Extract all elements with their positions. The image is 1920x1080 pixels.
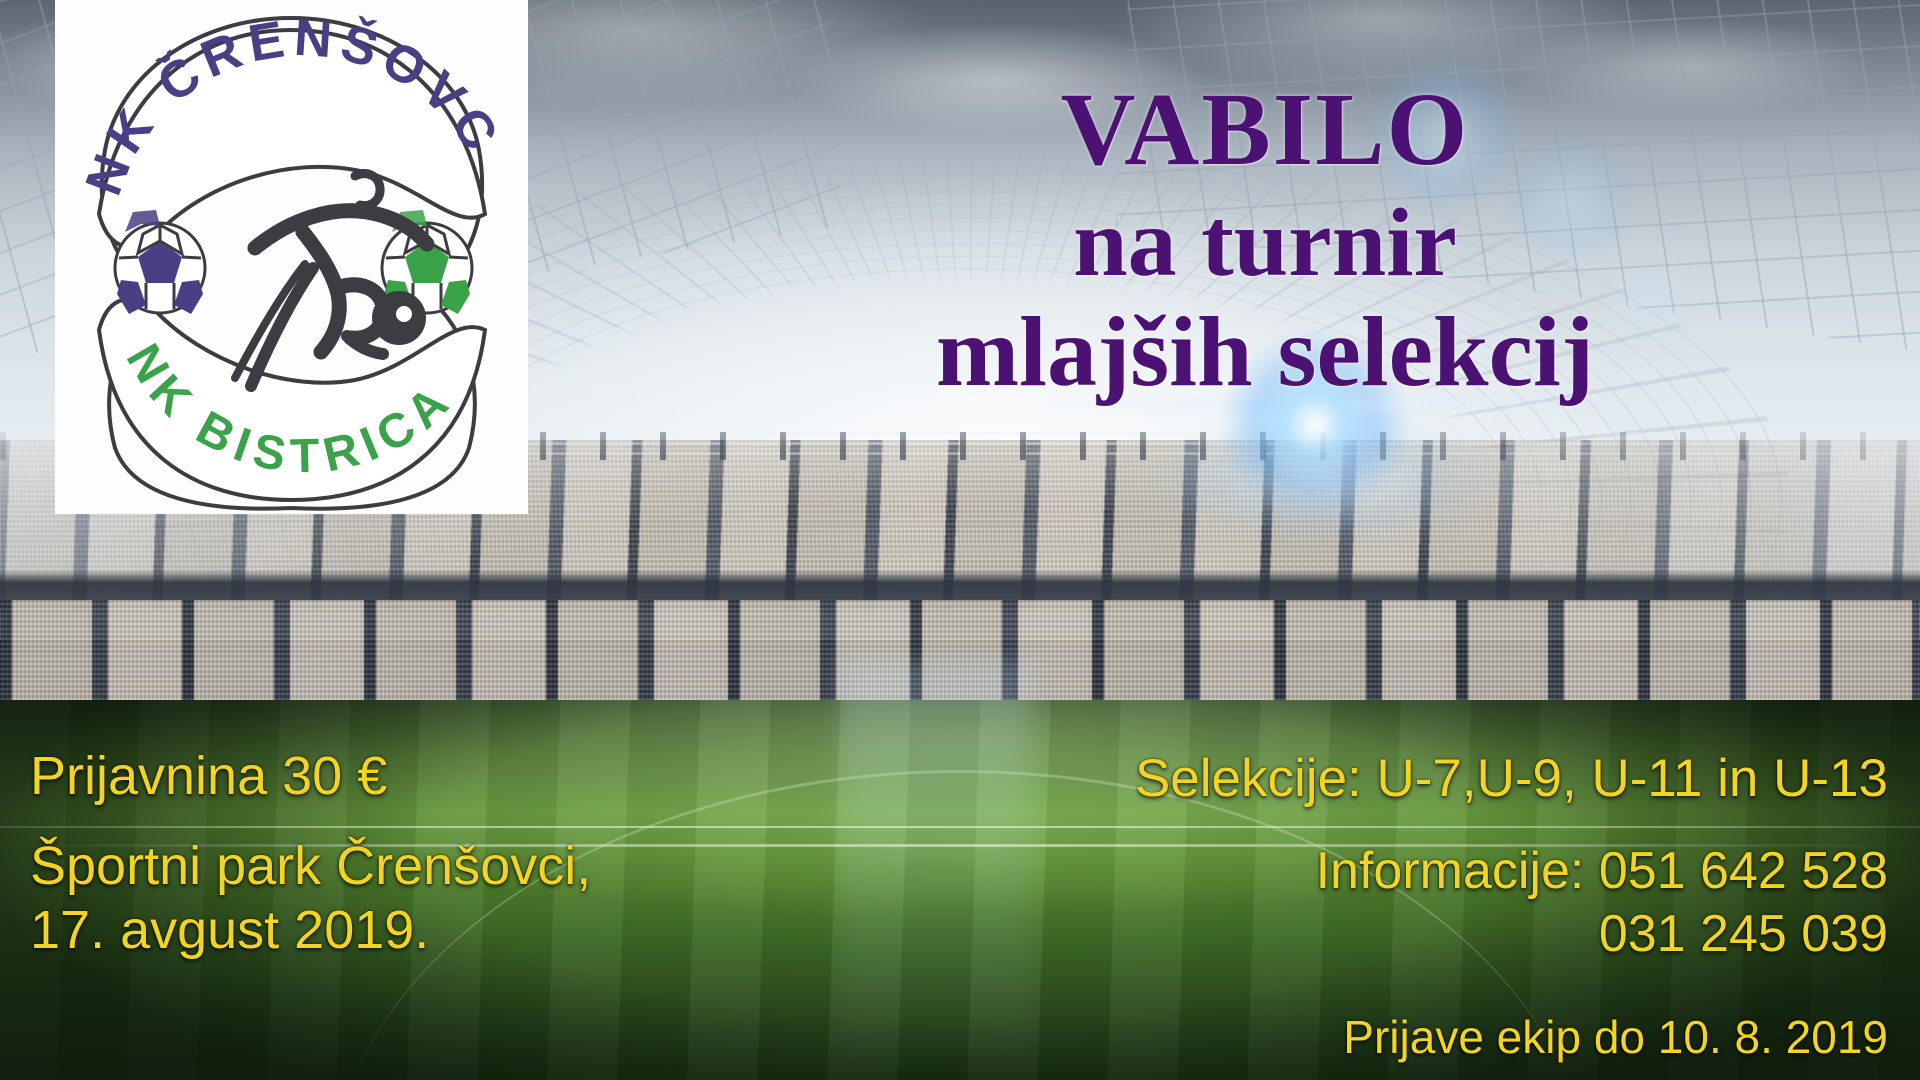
title-line-na-turnir: na turnir	[760, 194, 1770, 292]
title-line-mlajsih-selekcij: mlajših selekcij	[760, 302, 1770, 402]
entry-fee-text: Prijavnina 30 €	[30, 745, 387, 807]
tournament-poster: NK ČRENŠOVCI NK BISTRICA	[0, 0, 1920, 1080]
registration-deadline-text: Prijave ekip do 10. 8. 2019	[1343, 1010, 1888, 1064]
floodlight-beam	[840, 660, 1030, 1080]
contact-phone-primary: Informacije: 051 642 528	[1316, 840, 1888, 903]
poster-title: VABILO na turnir mlajših selekcij	[760, 78, 1770, 402]
contact-phone-secondary: 031 245 039	[1316, 903, 1888, 966]
soccer-ball-purple-icon	[115, 210, 205, 314]
date-text: 17. avgust 2019.	[30, 899, 591, 963]
age-groups-text: Selekcije: U-7,U-9, U-11 in U-13	[1135, 748, 1888, 809]
club-logo: NK ČRENŠOVCI NK BISTRICA	[55, 0, 528, 514]
venue-text: Športni park Črenšovci,	[30, 835, 591, 899]
contact-info: Informacije: 051 642 528 031 245 039	[1316, 840, 1888, 967]
section-divider	[0, 826, 1920, 828]
venue-and-date: Športni park Črenšovci, 17. avgust 2019.	[30, 835, 591, 962]
crest-ball-dot-highlight	[396, 306, 412, 322]
club-crest-icon: NK ČRENŠOVCI NK BISTRICA	[55, 0, 528, 514]
title-line-vabilo: VABILO	[760, 78, 1770, 182]
